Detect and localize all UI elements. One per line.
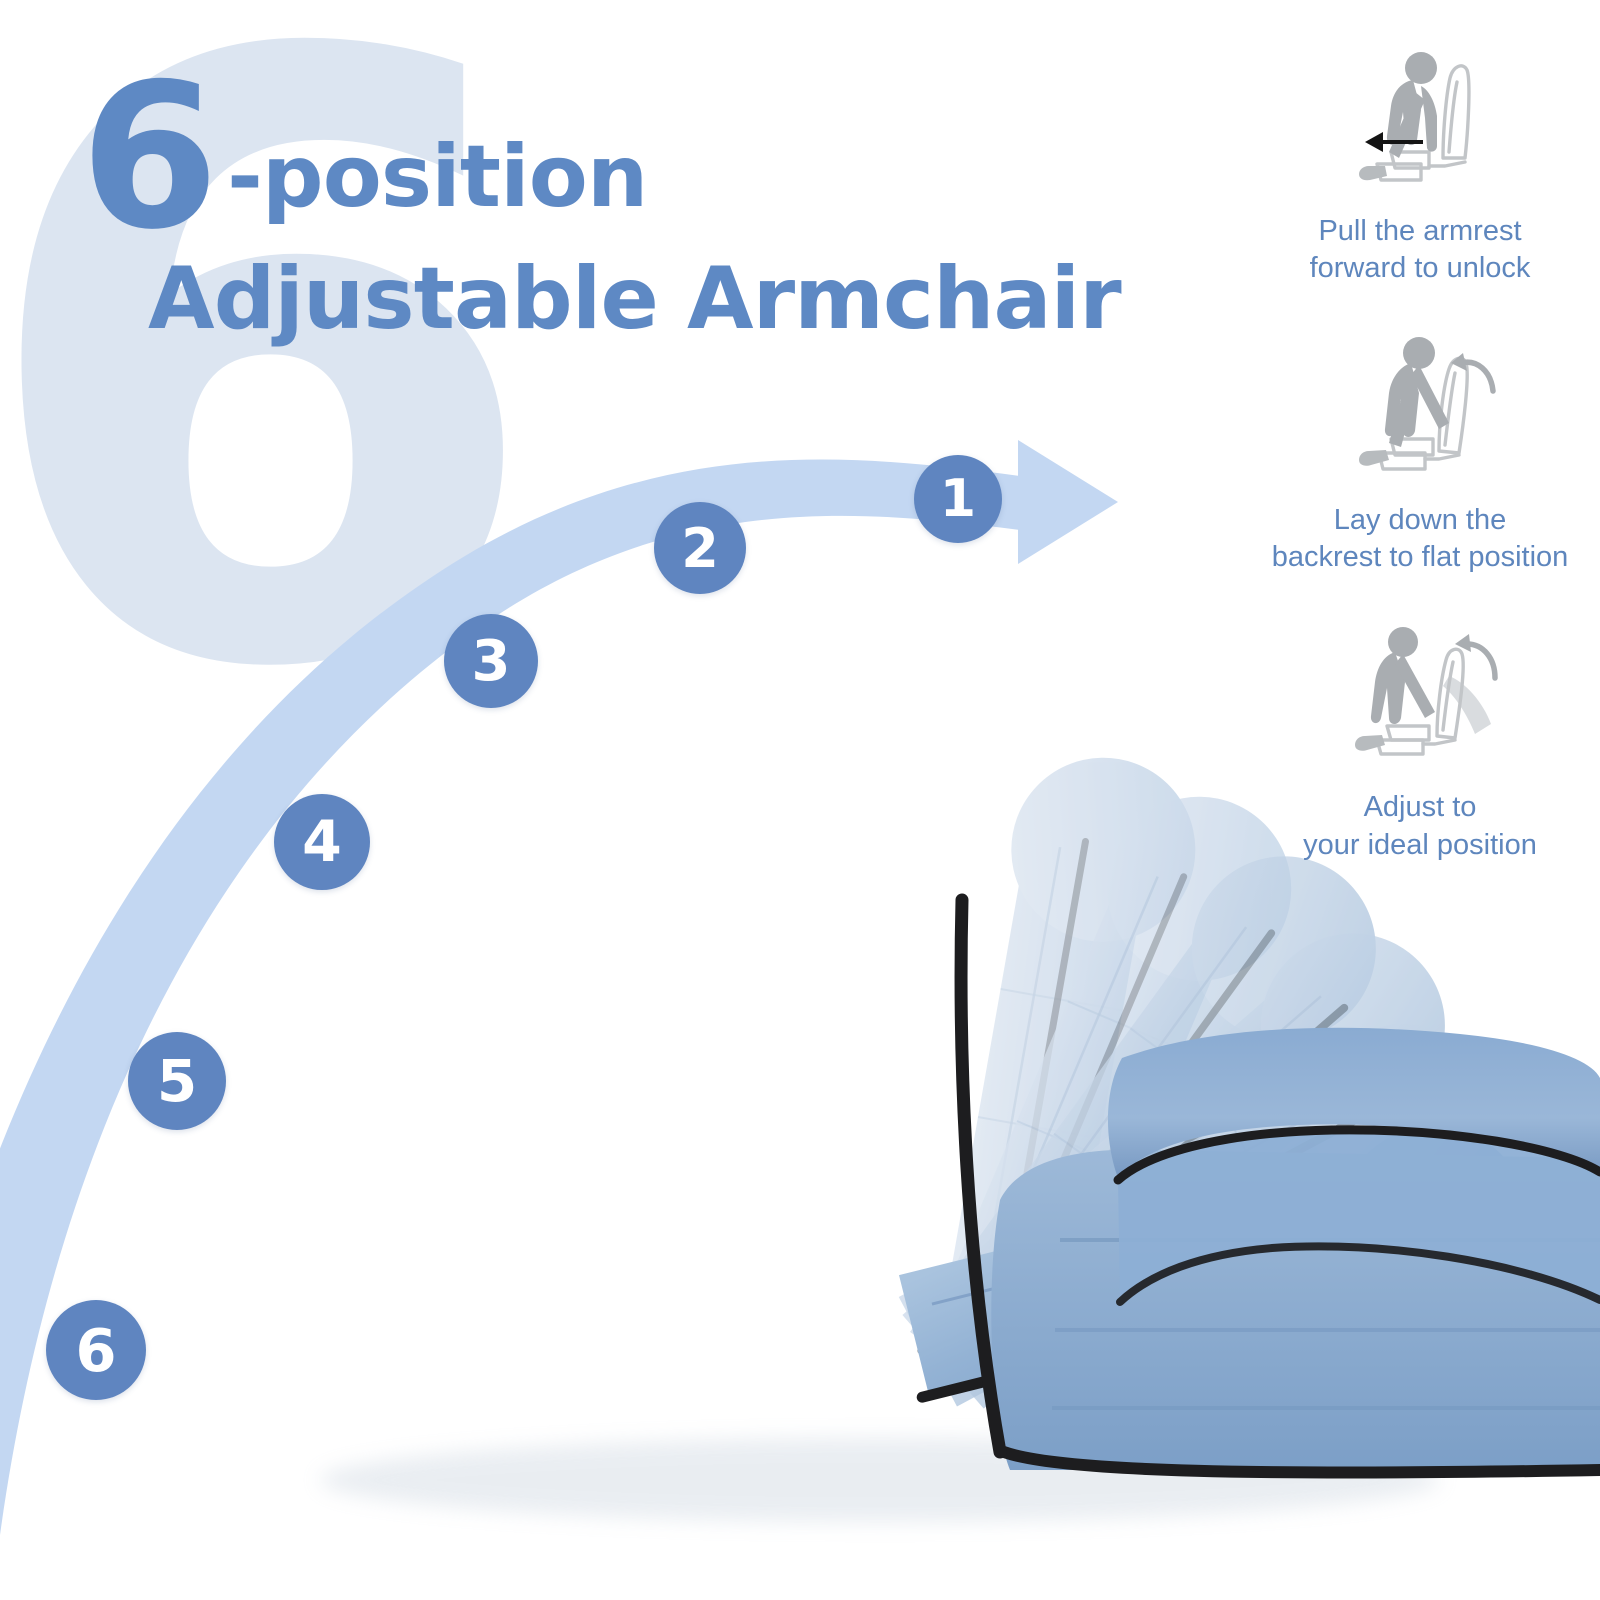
step-2-line-2: backrest to flat position [1272, 541, 1569, 573]
position-badge-5[interactable]: 5 [128, 1032, 226, 1130]
instruction-step-1-caption: Pull the armrest forward to unlock [1310, 213, 1531, 287]
position-badge-5-label: 5 [157, 1047, 197, 1115]
instruction-step-2-caption: Lay down the backrest to flat position [1272, 502, 1569, 576]
instruction-step-3: Adjust to your ideal position [1240, 616, 1600, 863]
title-line-2: Adjustable Armchair [148, 256, 1121, 342]
title-suffix: -position [215, 134, 647, 238]
infographic-canvas: 6 [0, 0, 1600, 1600]
page-title: 6 -position Adjustable Armchair [80, 78, 1121, 342]
position-badge-1-label: 1 [940, 469, 976, 529]
person-laying-backrest-flat-icon [1325, 329, 1515, 494]
step-1-line-1: Pull the armrest [1318, 215, 1521, 247]
position-badge-4-label: 4 [302, 809, 342, 875]
position-badge-2[interactable]: 2 [654, 502, 746, 594]
position-badge-1[interactable]: 1 [914, 455, 1002, 543]
instruction-steps: Pull the armrest forward to unlock [1240, 40, 1600, 864]
instruction-step-2: Lay down the backrest to flat position [1240, 329, 1600, 576]
position-badge-6[interactable]: 6 [46, 1300, 146, 1400]
instruction-step-3-caption: Adjust to your ideal position [1303, 789, 1537, 863]
position-badge-3[interactable]: 3 [444, 614, 538, 708]
title-number-6: 6 [80, 78, 215, 238]
person-adjusting-backrest-icon [1325, 616, 1515, 781]
position-badge-3-label: 3 [472, 629, 511, 694]
position-badge-6-label: 6 [75, 1316, 116, 1385]
step-1-line-2: forward to unlock [1310, 252, 1531, 284]
instruction-step-1: Pull the armrest forward to unlock [1240, 40, 1600, 287]
step-2-line-1: Lay down the [1334, 504, 1507, 536]
step-3-line-2: your ideal position [1303, 829, 1537, 861]
position-badge-2-label: 2 [681, 517, 719, 580]
position-badge-4[interactable]: 4 [274, 794, 370, 890]
person-pulling-armrest-icon [1325, 40, 1515, 205]
step-3-line-1: Adjust to [1364, 791, 1477, 823]
